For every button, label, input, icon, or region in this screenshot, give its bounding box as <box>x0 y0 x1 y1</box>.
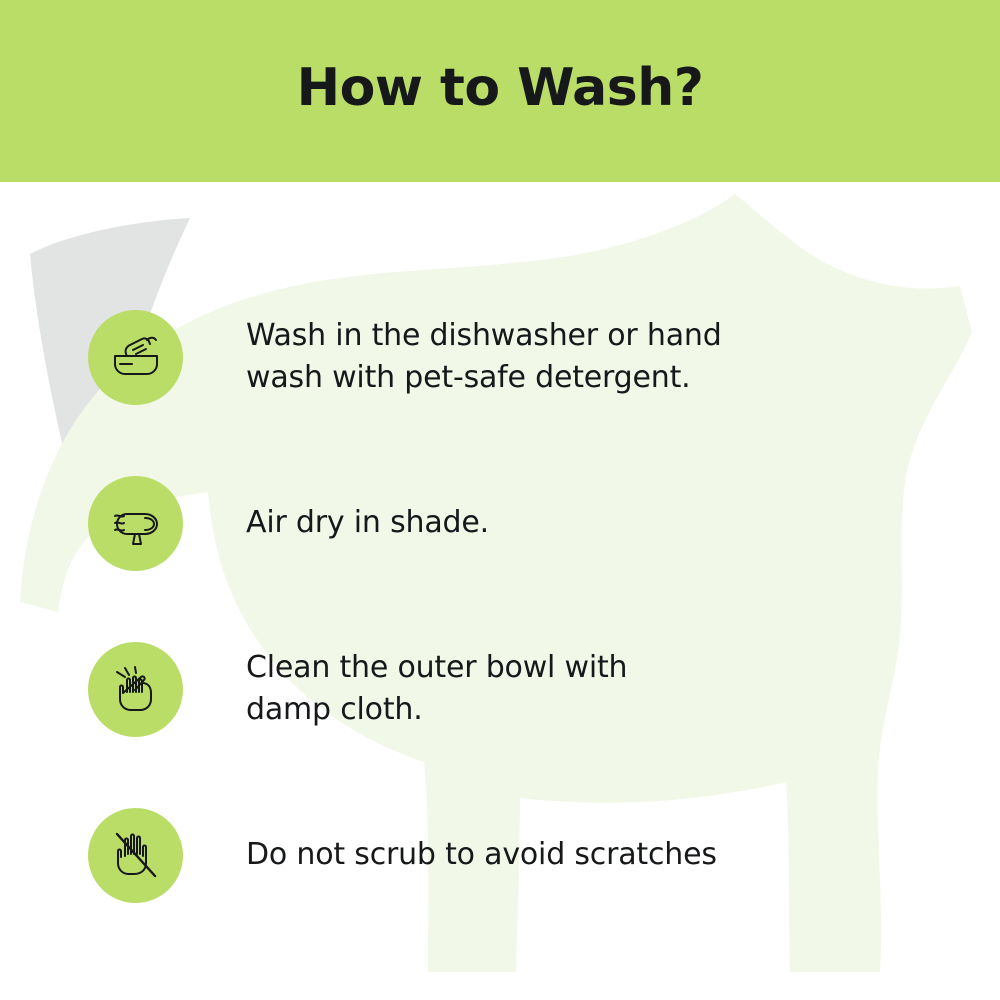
list-item-line: wash with pet-safe detergent. <box>246 357 722 399</box>
list-item-line: Air dry in shade. <box>246 502 489 544</box>
list-item-line: damp cloth. <box>246 689 627 731</box>
list-item: Wash in the dishwasher or hand wash with… <box>88 274 1000 440</box>
hand-wash-icon <box>88 310 183 405</box>
list-item-text: Wash in the dishwasher or hand wash with… <box>246 315 722 399</box>
list-item: Do not scrub to avoid scratches <box>88 772 1000 938</box>
how-to-wash-infographic: How to Wash? Wash in the dishwas <box>0 0 1000 1000</box>
page-title: How to Wash? <box>297 62 704 114</box>
list-item: Clean the outer bowl with damp cloth. <box>88 606 1000 772</box>
wipe-cloth-icon <box>88 642 183 737</box>
hair-dryer-icon <box>88 476 183 571</box>
header-band: How to Wash? <box>0 0 1000 182</box>
list-item-line: Clean the outer bowl with <box>246 647 627 689</box>
steps-list: Wash in the dishwasher or hand wash with… <box>0 182 1000 1000</box>
list-item-text: Clean the outer bowl with damp cloth. <box>246 647 627 731</box>
list-item-line: Wash in the dishwasher or hand <box>246 315 722 357</box>
list-item: Air dry in shade. <box>88 440 1000 606</box>
list-item-text: Do not scrub to avoid scratches <box>246 834 717 876</box>
no-scrub-hand-icon <box>88 808 183 903</box>
list-item-line: Do not scrub to avoid scratches <box>246 834 717 876</box>
list-item-text: Air dry in shade. <box>246 502 489 544</box>
